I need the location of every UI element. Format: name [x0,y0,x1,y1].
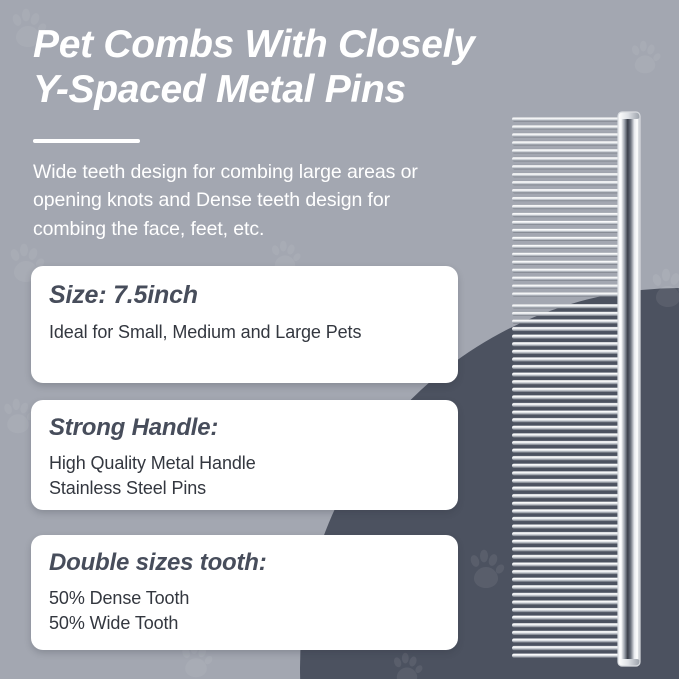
feature-card-size: Size: 7.5inch Ideal for Small, Medium an… [31,266,458,383]
feature-card-body: 50% Dense Tooth 50% Wide Tooth [49,586,440,636]
feature-card-body: Ideal for Small, Medium and Large Pets [49,320,440,345]
feature-card-title: Double sizes tooth: [49,549,440,578]
infographic-canvas: Pet Combs With Closely Y-Spaced Metal Pi… [0,0,679,679]
comb-dense-teeth [512,304,622,658]
paw-print-icon [628,40,662,76]
feature-card-tooth: Double sizes tooth: 50% Dense Tooth 50% … [31,535,458,650]
paw-print-icon [390,652,424,679]
comb-wide-teeth [512,117,622,297]
feature-card-body: High Quality Metal Handle Stainless Stee… [49,451,440,501]
feature-card-title: Strong Handle: [49,414,440,443]
pet-comb-product-image [470,95,670,675]
page-subtitle: Wide teeth design for combing large area… [33,158,463,243]
feature-card-title: Size: 7.5inch [49,280,440,310]
title-divider [33,139,140,143]
feature-card-handle: Strong Handle: High Quality Metal Handle… [31,400,458,510]
